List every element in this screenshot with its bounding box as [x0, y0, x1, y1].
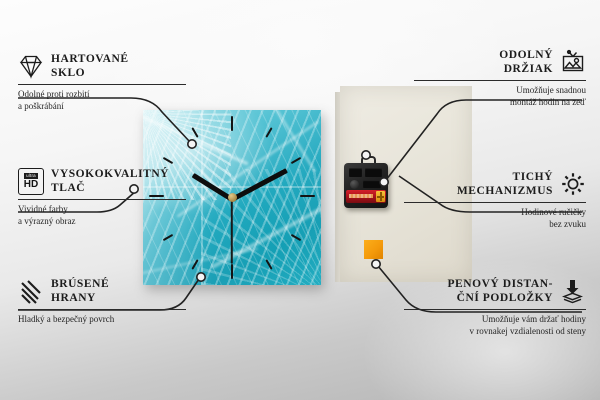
- foam-pad-icon: [560, 278, 586, 304]
- gear-icon: [560, 171, 586, 197]
- divider: [414, 80, 586, 81]
- feature-description: Hodinové ručičky bez zvuku: [404, 207, 586, 230]
- feature-title: BRÚSENÉ HRANY: [51, 277, 109, 305]
- feature-title: TICHÝ MECHANIZMUS: [457, 170, 553, 198]
- feature-description: Vividné farby a výrazný obraz: [18, 204, 186, 227]
- ultra-hd-icon: ultra HD: [18, 168, 44, 194]
- feature-description: Umožňuje vám držať hodiny v rovnakej vzd…: [404, 314, 586, 337]
- diamond-icon: [18, 53, 44, 79]
- callout-node-mechanism: [380, 178, 388, 186]
- divider: [18, 309, 186, 310]
- feature-title: VYSOKOKVALITNÝ TLAČ: [51, 167, 169, 195]
- divider: [18, 199, 186, 200]
- callout-node-glass: [188, 140, 196, 148]
- ultra-hd-icon-bottom-label: HD: [24, 179, 38, 190]
- divider: [404, 202, 586, 203]
- callout-node-edges: [197, 273, 205, 281]
- feature-description: Odolné proti rozbití a poškrábání: [18, 89, 186, 112]
- feature-foam-spacers: PENOVÝ DISTAN- ČNÍ PODLOŽKY Umožňuje vám…: [404, 277, 586, 337]
- feature-high-quality-print: ultra HD VYSOKOKVALITNÝ TLAČ Vividné far…: [18, 167, 186, 227]
- feature-tempered-glass: HARTOVANÉ SKLO Odolné proti rozbití a po…: [18, 52, 186, 112]
- feature-durable-holder: ODOLNÝ DRŽIAK Umožňuje snadnou montáž ho…: [414, 48, 586, 108]
- divider: [404, 309, 586, 310]
- callout-node-foam: [372, 260, 380, 268]
- ground-edges-icon: [18, 278, 44, 304]
- feature-ground-edges: BRÚSENÉ HRANY Hladký a bezpečný povrch: [18, 277, 186, 326]
- feature-title: PENOVÝ DISTAN- ČNÍ PODLOŽKY: [447, 277, 553, 305]
- feature-description: Umožňuje snadnou montáž hodin na zeď: [414, 85, 586, 108]
- divider: [18, 84, 186, 85]
- feature-description: Hladký a bezpečný povrch: [18, 314, 186, 326]
- feature-title: HARTOVANÉ SKLO: [51, 52, 129, 80]
- feature-silent-mechanism: TICHÝ MECHANIZMUS Hodinové ručičky bez z…: [404, 170, 586, 230]
- feature-title: ODOLNÝ DRŽIAK: [499, 48, 553, 76]
- picture-hanger-icon: [560, 49, 586, 75]
- callout-node-holder: [362, 151, 370, 159]
- infographic-canvas: HARTOVANÉ SKLO Odolné proti rozbití a po…: [0, 0, 600, 400]
